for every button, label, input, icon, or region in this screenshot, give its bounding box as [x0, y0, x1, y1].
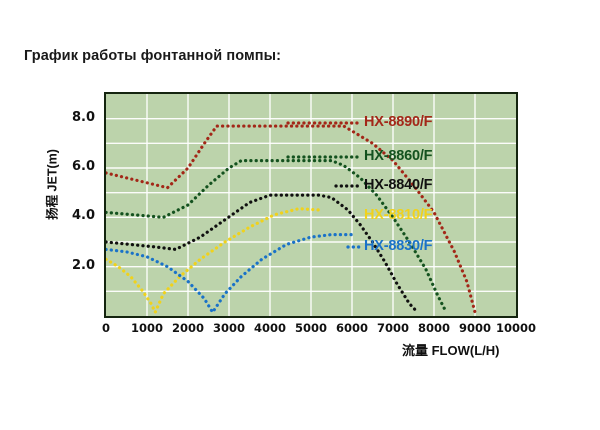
- x-axis-title: 流量 FLOW(L/H): [402, 340, 499, 359]
- plot-area: [104, 92, 518, 318]
- x-tick-label: 0: [83, 321, 129, 335]
- series-line-hx-8810-f: [106, 209, 319, 313]
- x-tick-label: 1000: [124, 321, 170, 335]
- x-tick-label: 4000: [247, 321, 293, 335]
- x-tick-label: 6000: [329, 321, 375, 335]
- legend-item-hx-8890-f: HX-8890/F: [364, 114, 432, 130]
- x-tick-label: 10000: [493, 321, 539, 335]
- legend-item-hx-8810-f: HX-8810/F: [364, 207, 432, 223]
- x-tick-label: 7000: [370, 321, 416, 335]
- legend-item-hx-8840-f: HX-8840/F: [364, 177, 432, 193]
- x-tick-label: 2000: [165, 321, 211, 335]
- legend-item-hx-8830-f: HX-8830/F: [364, 238, 432, 254]
- y-axis-title: 扬程 JET(m): [42, 125, 61, 245]
- x-tick-label: 9000: [452, 321, 498, 335]
- y-tick-label: 4.0: [55, 208, 95, 223]
- y-tick-label: 2.0: [55, 258, 95, 273]
- chart-canvas: [106, 94, 516, 316]
- page-title: График работы фонтанной помпы:: [24, 48, 281, 64]
- y-tick-label: 6.0: [55, 159, 95, 174]
- x-tick-label: 8000: [411, 321, 457, 335]
- legend-item-hx-8860-f: HX-8860/F: [364, 148, 432, 164]
- y-tick-label: 8.0: [55, 110, 95, 125]
- x-tick-label: 3000: [206, 321, 252, 335]
- x-tick-label: 5000: [288, 321, 334, 335]
- chart-page: График работы фонтанной помпы: 扬程 JET(m)…: [0, 0, 600, 430]
